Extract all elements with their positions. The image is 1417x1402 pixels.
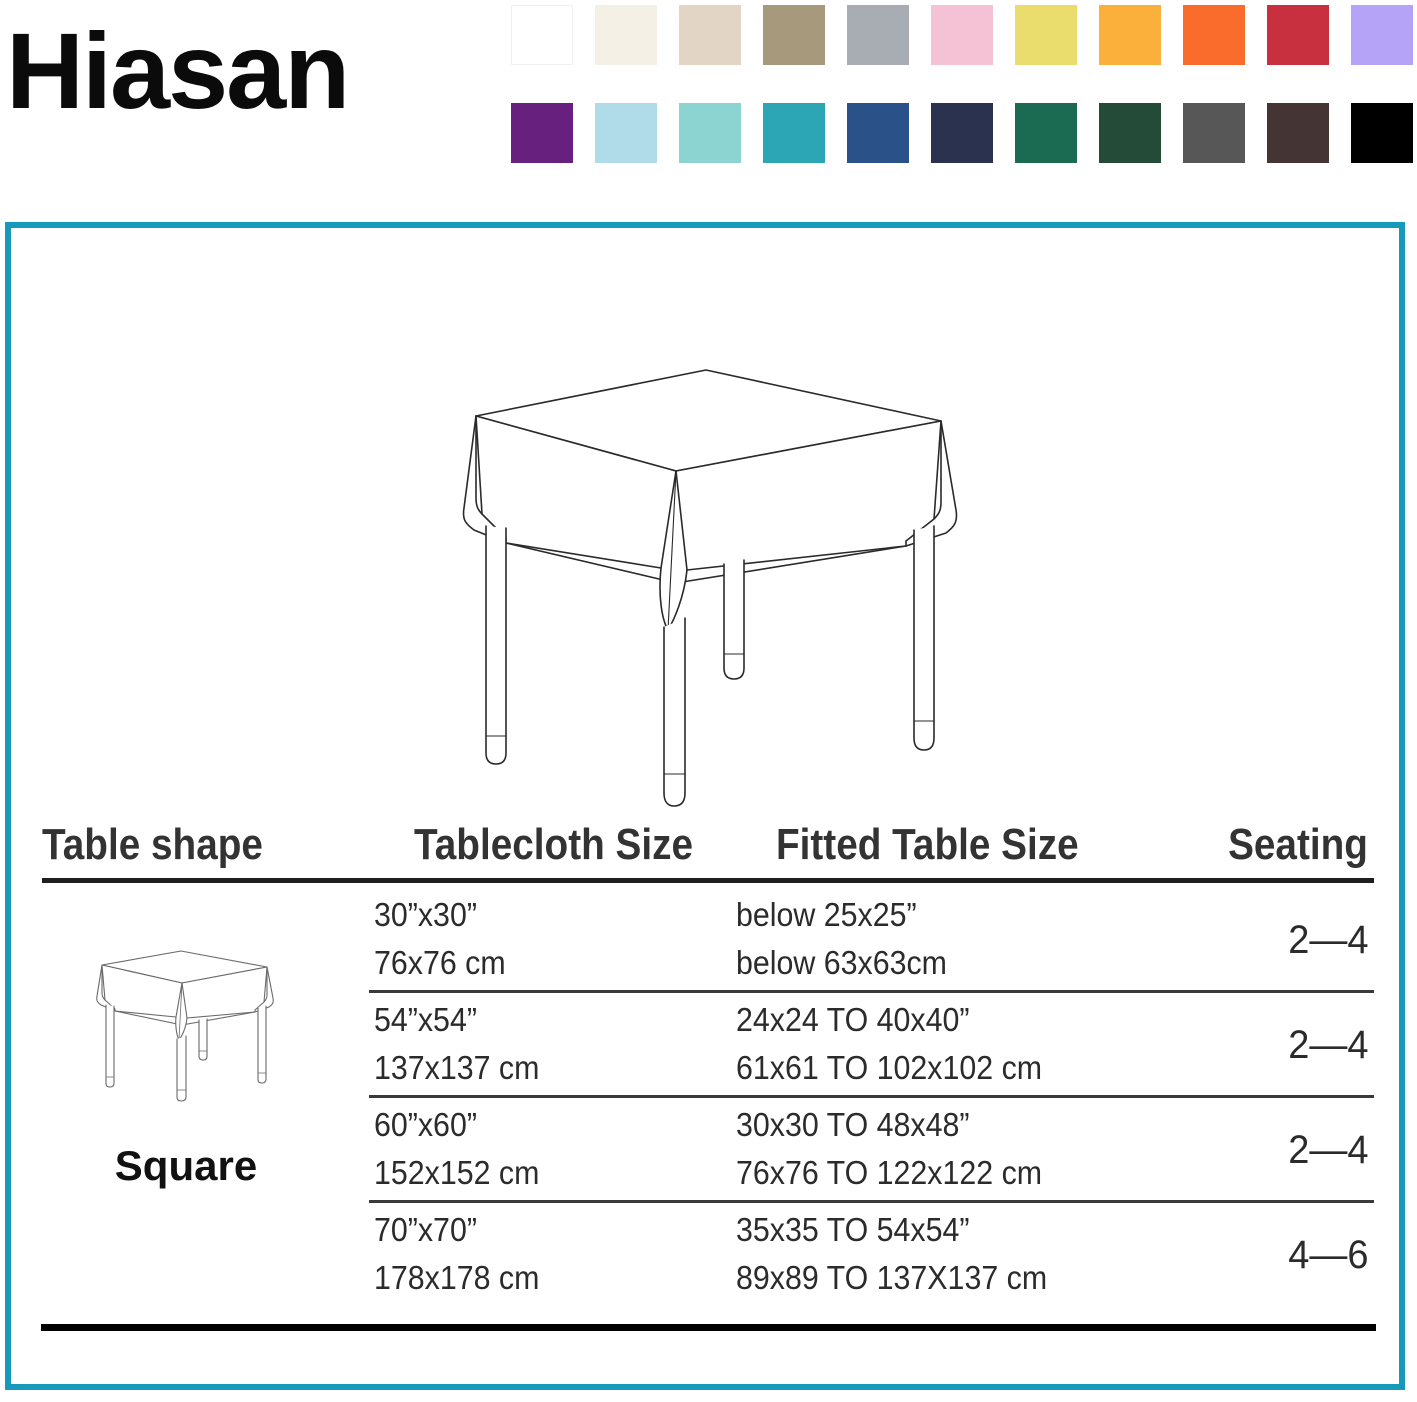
cell-cloth-inches: 30”x30”: [374, 896, 477, 934]
cell-seating: 4—6: [1288, 1233, 1368, 1278]
color-swatch-red[interactable]: [1267, 5, 1329, 65]
shape-label: Square: [41, 1142, 331, 1190]
color-swatch-grid: [511, 5, 1417, 170]
color-swatch-aqua[interactable]: [679, 103, 741, 163]
color-swatch-navy[interactable]: [931, 103, 993, 163]
color-swatch-beige[interactable]: [679, 5, 741, 65]
cell-cloth-inches: 60”x60”: [374, 1106, 477, 1144]
color-swatch-taupe[interactable]: [763, 5, 825, 65]
cell-fitted-inches: 24x24 TO 40x40”: [736, 1001, 969, 1039]
cell-seating: 2—4: [1288, 1128, 1368, 1173]
header-divider: [42, 878, 1374, 883]
cell-fitted-inches: below 25x25”: [736, 896, 917, 934]
cell-seating: 2—4: [1288, 918, 1368, 963]
cell-fitted-cm: 61x61 TO 102x102 cm: [736, 1049, 1042, 1087]
square-tablecloth-illustration: [406, 338, 1026, 818]
swatch-row-top: [511, 5, 1417, 65]
color-swatch-gray[interactable]: [847, 5, 909, 65]
column-header-seating: Seating: [1228, 820, 1368, 870]
square-table-icon: [69, 943, 304, 1128]
column-header-fitted-table-size: Fitted Table Size: [776, 820, 1079, 870]
color-swatch-white[interactable]: [511, 5, 573, 65]
table-bottom-divider: [41, 1324, 1376, 1331]
color-swatch-yellow[interactable]: [1015, 5, 1077, 65]
color-swatch-cream[interactable]: [595, 5, 657, 65]
cell-fitted-cm: below 63x63cm: [736, 944, 947, 982]
cell-seating: 2—4: [1288, 1023, 1368, 1068]
table-header-row: Table shape Tablecloth Size Fitted Table…: [36, 808, 1374, 870]
cell-cloth-cm: 178x178 cm: [374, 1259, 539, 1297]
cell-cloth-cm: 137x137 cm: [374, 1049, 539, 1087]
cell-fitted-cm: 89x89 TO 137X137 cm: [736, 1259, 1047, 1297]
color-swatch-purple[interactable]: [511, 103, 573, 163]
cell-cloth-inches: 70”x70”: [374, 1211, 477, 1249]
color-swatch-orange[interactable]: [1183, 5, 1245, 65]
swatch-row-bottom: [511, 103, 1417, 163]
color-swatch-dark-green[interactable]: [1099, 103, 1161, 163]
color-swatch-blue[interactable]: [847, 103, 909, 163]
cell-fitted-cm: 76x76 TO 122x122 cm: [736, 1154, 1042, 1192]
color-swatch-light-blue[interactable]: [595, 103, 657, 163]
cell-fitted-inches: 30x30 TO 48x48”: [736, 1106, 969, 1144]
cell-cloth-inches: 54”x54”: [374, 1001, 477, 1039]
color-swatch-lavender[interactable]: [1351, 5, 1413, 65]
color-swatch-black[interactable]: [1351, 103, 1413, 163]
color-swatch-amber[interactable]: [1099, 5, 1161, 65]
cell-cloth-cm: 76x76 cm: [374, 944, 506, 982]
cell-cloth-cm: 152x152 cm: [374, 1154, 539, 1192]
color-swatch-pink[interactable]: [931, 5, 993, 65]
table-row: 70”x70” 178x178 cm 35x35 TO 54x54” 89x89…: [36, 1203, 1374, 1315]
table-shape-cell: Square: [41, 943, 331, 1193]
column-header-tablecloth-size: Tablecloth Size: [414, 820, 693, 870]
column-header-table-shape: Table shape: [42, 820, 263, 870]
cell-fitted-inches: 35x35 TO 54x54”: [736, 1211, 969, 1249]
color-swatch-dark-gray[interactable]: [1183, 103, 1245, 163]
brand-name: Hiasan: [6, 12, 476, 130]
color-swatch-dark-brown[interactable]: [1267, 103, 1329, 163]
color-swatch-emerald[interactable]: [1015, 103, 1077, 163]
size-chart-panel: Table shape Tablecloth Size Fitted Table…: [5, 222, 1405, 1390]
color-swatch-teal[interactable]: [763, 103, 825, 163]
brand-logo: Hiasan: [6, 12, 476, 132]
